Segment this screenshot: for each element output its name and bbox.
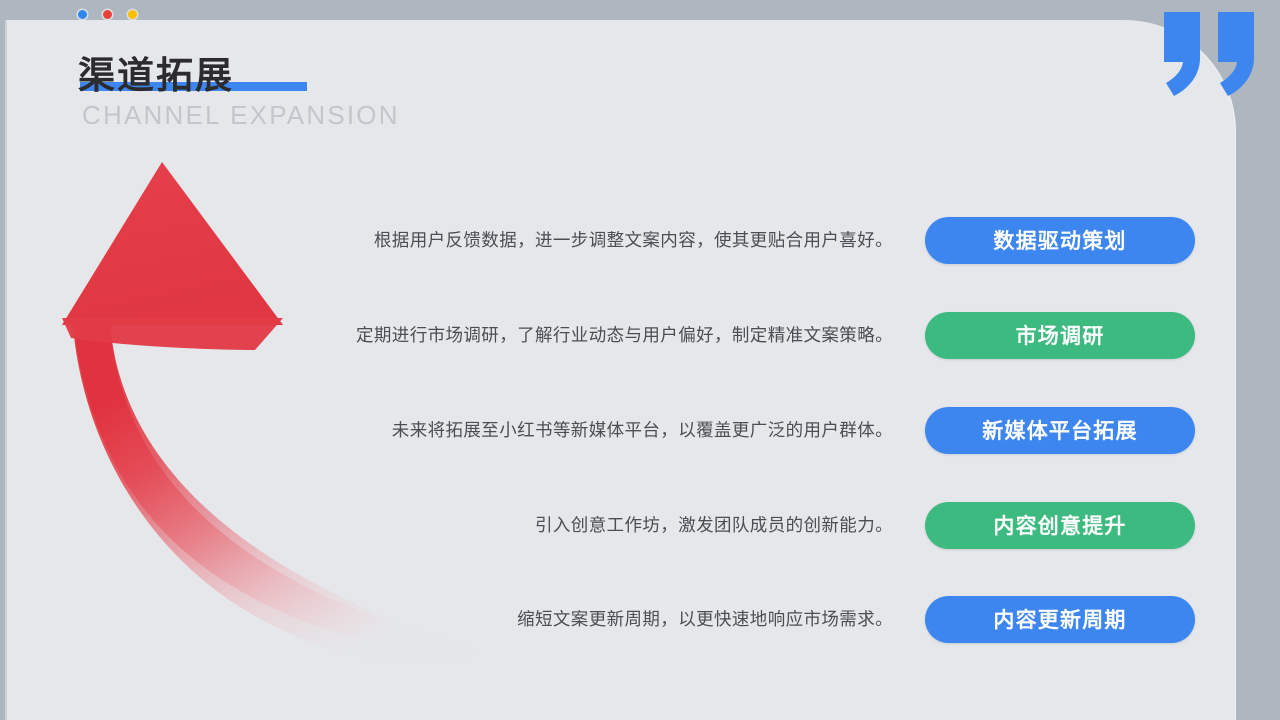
window-dot-red[interactable] bbox=[103, 10, 112, 19]
tag-pill-content-creativity[interactable]: 内容创意提升 bbox=[925, 502, 1195, 549]
content-row: 根据用户反馈数据，进一步调整文案内容，使其更贴合用户喜好。 数据驱动策划 bbox=[305, 216, 1195, 264]
row-description: 缩短文案更新周期，以更快速地响应市场需求。 bbox=[517, 607, 893, 632]
row-description: 引入创意工作坊，激发团队成员的创新能力。 bbox=[535, 513, 893, 538]
content-row: 未来将拓展至小红书等新媒体平台，以覆盖更广泛的用户群体。 新媒体平台拓展 bbox=[305, 406, 1195, 454]
window-titlebar bbox=[0, 0, 1280, 20]
row-description: 定期进行市场调研，了解行业动态与用户偏好，制定精准文案策略。 bbox=[356, 323, 893, 348]
content-row: 缩短文案更新周期，以更快速地响应市场需求。 内容更新周期 bbox=[305, 595, 1195, 643]
window-controls bbox=[78, 10, 137, 19]
quote-mark-icon bbox=[1158, 8, 1262, 104]
content-rows: 根据用户反馈数据，进一步调整文案内容，使其更贴合用户喜好。 数据驱动策划 定期进… bbox=[5, 20, 1236, 720]
window-dot-blue[interactable] bbox=[78, 10, 87, 19]
content-row: 引入创意工作坊，激发团队成员的创新能力。 内容创意提升 bbox=[305, 501, 1195, 549]
slide-card: 渠道拓展 CHANNEL EXPANSION 根据用户反馈数据，进一步调整文案内… bbox=[5, 20, 1236, 720]
window-dot-yellow[interactable] bbox=[128, 10, 137, 19]
row-description: 根据用户反馈数据，进一步调整文案内容，使其更贴合用户喜好。 bbox=[374, 228, 893, 253]
slide-stage: 渠道拓展 CHANNEL EXPANSION 根据用户反馈数据，进一步调整文案内… bbox=[0, 0, 1280, 720]
tag-pill-market-research[interactable]: 市场调研 bbox=[925, 312, 1195, 359]
tag-pill-update-cycle[interactable]: 内容更新周期 bbox=[925, 596, 1195, 643]
row-description: 未来将拓展至小红书等新媒体平台，以覆盖更广泛的用户群体。 bbox=[392, 418, 893, 443]
content-row: 定期进行市场调研，了解行业动态与用户偏好，制定精准文案策略。 市场调研 bbox=[305, 311, 1195, 359]
page-title-wrap: 渠道拓展 bbox=[78, 54, 234, 98]
page-title: 渠道拓展 bbox=[78, 54, 234, 98]
tag-pill-new-media-expansion[interactable]: 新媒体平台拓展 bbox=[925, 407, 1195, 454]
tag-pill-data-driven-planning[interactable]: 数据驱动策划 bbox=[925, 217, 1195, 264]
